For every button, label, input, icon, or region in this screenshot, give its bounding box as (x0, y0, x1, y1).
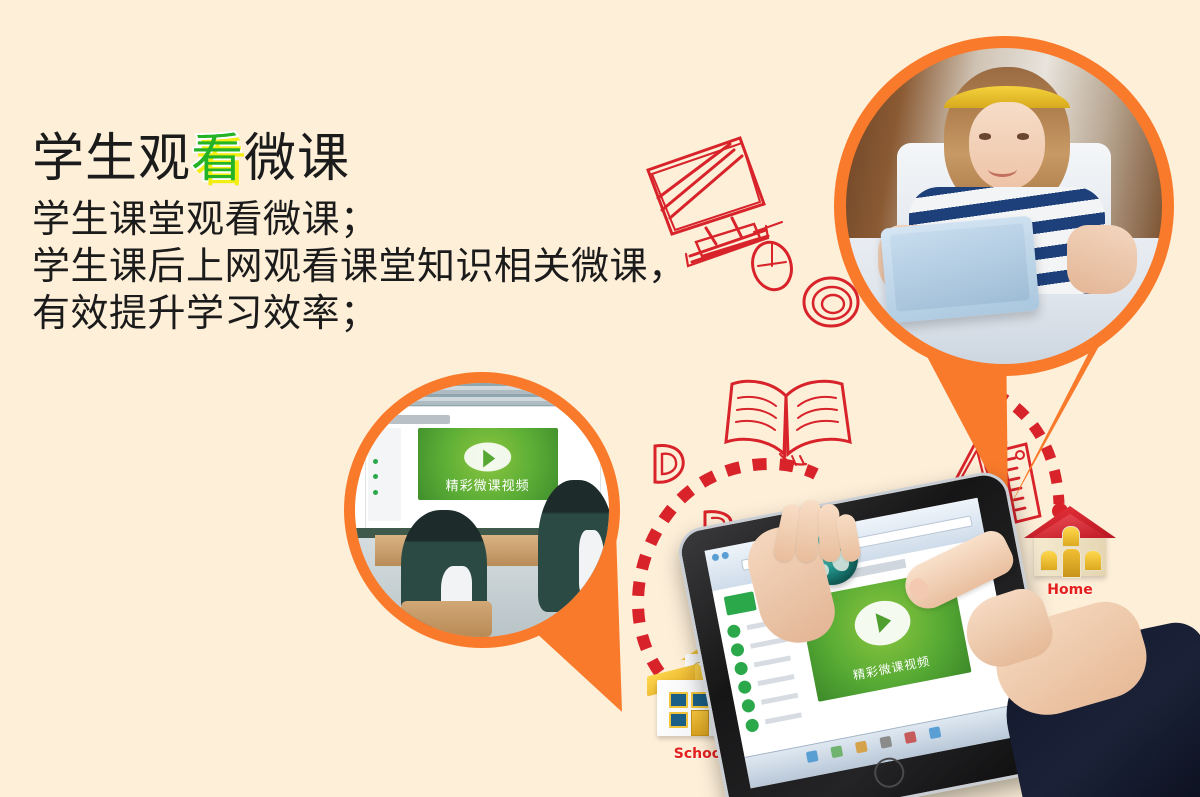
poster-canvas: 精彩微课视频 (0, 0, 1200, 797)
play-icon (464, 442, 512, 471)
title-segment: 学生观 (32, 129, 191, 189)
subtitle-line-1: 学生课堂观看微课； (32, 196, 732, 243)
bubble-girl-tablet[interactable] (818, 18, 1190, 518)
classroom-photo: 精彩微课视频 (355, 383, 609, 637)
video-caption: 精彩微课视频 (418, 475, 558, 494)
left-hand (744, 498, 874, 648)
video-thumbnail: 精彩微课视频 (418, 428, 558, 501)
title-segment-highlighted: 看 (191, 128, 244, 190)
right-hand (960, 560, 1200, 797)
tablet-icon (880, 215, 1039, 323)
text-block: 学生观看微课 学生课堂观看微课； 学生课后上网观看课堂知识相关微课， 有效提升学… (32, 128, 732, 337)
video-caption: 精彩微课视频 (814, 645, 970, 691)
subtitle-line-3: 有效提升学习效率； (32, 290, 732, 337)
title-segment: 微课 (244, 129, 350, 189)
page-title: 学生观看微课 (32, 128, 732, 190)
subtitle-line-2: 学生课后上网观看课堂知识相关微课， (32, 243, 732, 290)
girl-photo (846, 48, 1162, 364)
bubble-classroom[interactable]: 精彩微课视频 (330, 360, 652, 718)
